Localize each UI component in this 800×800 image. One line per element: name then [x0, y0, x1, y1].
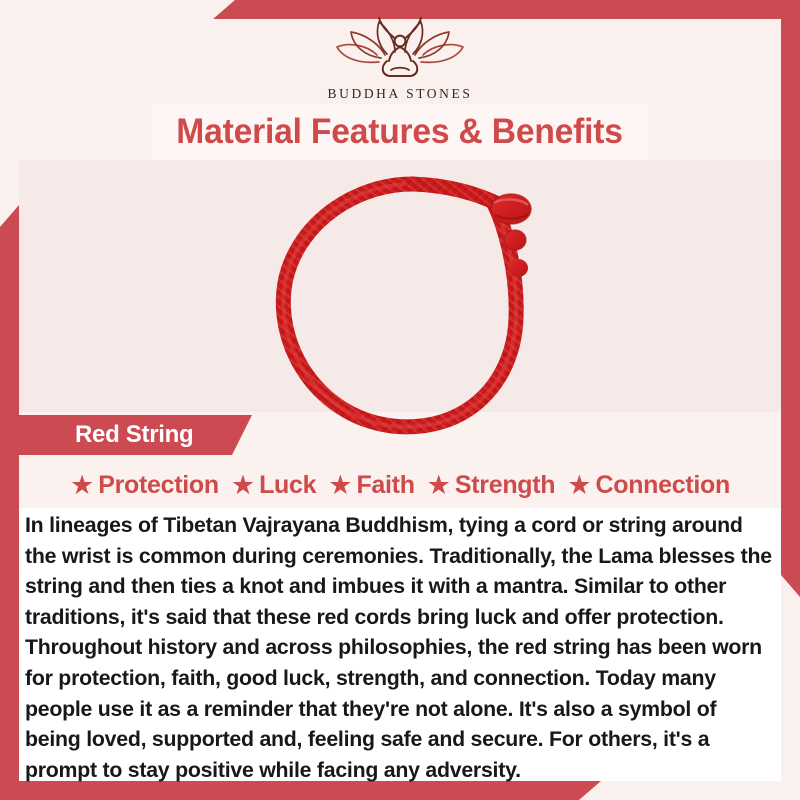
benefit-label: Luck: [259, 471, 316, 500]
title-band: Material Features & Benefits: [152, 104, 648, 160]
benefit-label: Strength: [455, 471, 555, 500]
benefit-label: Faith: [356, 471, 414, 500]
benefit-label: Connection: [595, 471, 730, 500]
brand-wordmark: BUDDHA STONES: [328, 86, 473, 102]
decor-right-bar: [781, 19, 800, 597]
benefit-item: ★ Connection: [567, 471, 730, 500]
description-body: In lineages of Tibetan Vajrayana Buddhis…: [25, 510, 775, 785]
benefit-item: ★ Protection: [70, 471, 219, 500]
product-name-label: Red String: [75, 421, 193, 449]
star-icon: ★: [328, 472, 352, 499]
benefits-list: ★ Protection ★ Luck ★ Faith ★ Strength ★…: [19, 463, 781, 507]
page-title: Material Features & Benefits: [177, 112, 624, 152]
lotus-meditation-icon: [325, 14, 475, 84]
star-icon: ★: [427, 472, 451, 499]
star-icon: ★: [567, 472, 591, 499]
benefit-item: ★ Faith: [328, 471, 414, 500]
product-name-ribbon: Red String: [19, 415, 252, 455]
star-icon: ★: [70, 472, 94, 499]
brand-logo: BUDDHA STONES: [0, 14, 800, 102]
benefit-item: ★ Luck: [231, 471, 316, 500]
benefit-item: ★ Strength: [427, 471, 556, 500]
product-image-red-string-bracelet: [262, 168, 562, 448]
star-icon: ★: [231, 472, 255, 499]
decor-left-bar: [0, 205, 19, 800]
benefit-label: Protection: [98, 471, 219, 500]
